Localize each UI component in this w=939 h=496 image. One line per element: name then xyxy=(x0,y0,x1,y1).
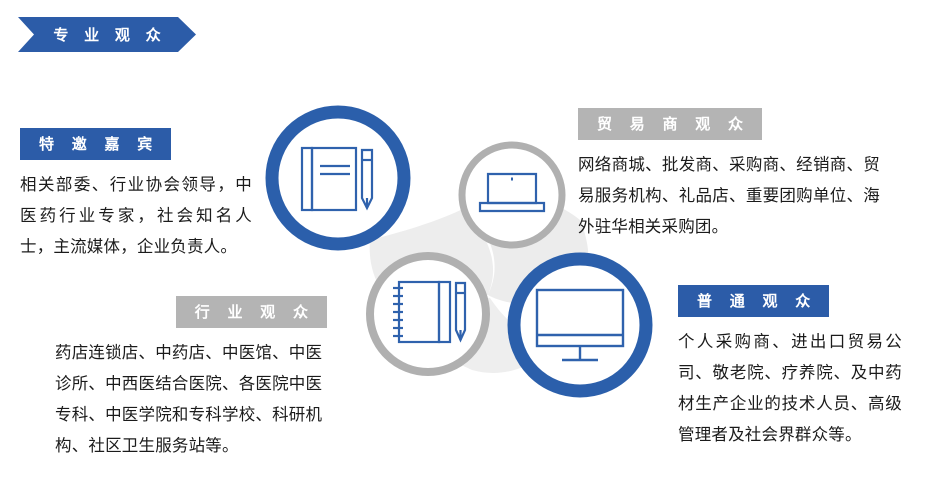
banner-title: 专 业 观 众 xyxy=(18,17,196,52)
section-public-body: 个人采购商、进出口贸易公司、敬老院、疗养院、及中药材生产企业的技术人员、高级管理… xyxy=(678,326,902,450)
infographic-canvas: 专 业 观 众 xyxy=(0,0,939,496)
section-trade-label: 贸 易 商 观 众 xyxy=(578,108,762,140)
section-vip: 特 邀 嘉 宾 相关部委、行业协会领导，中医药行业专家，社会知名人士，主流媒体，… xyxy=(20,128,258,262)
vip-circle xyxy=(272,112,404,244)
section-industry-body: 药店连锁店、中药店、中医馆、中医诊所、中西医结合医院、各医院中医专科、中医学院和… xyxy=(55,337,327,461)
industry-circle xyxy=(370,256,486,372)
section-trade-body: 网络商城、批发商、采购商、经销商、贸易服务机构、礼品店、重要团购单位、海外驻华相… xyxy=(578,149,880,242)
section-industry-label: 行 业 观 众 xyxy=(176,296,327,328)
page-banner: 专 业 观 众 xyxy=(18,17,196,52)
section-vip-body: 相关部委、行业协会领导，中医药行业专家，社会知名人士，主流媒体，企业负责人。 xyxy=(20,169,252,262)
section-public-label: 普 通 观 众 xyxy=(678,285,829,317)
public-circle xyxy=(514,259,646,391)
trade-circle xyxy=(462,145,562,245)
section-trade: 贸 易 商 观 众 网络商城、批发商、采购商、经销商、贸易服务机构、礼品店、重要… xyxy=(578,108,888,242)
section-industry: 行 业 观 众 药店连锁店、中药店、中医馆、中医诊所、中西医结合医院、各医院中医… xyxy=(55,296,327,461)
section-public: 普 通 观 众 个人采购商、进出口贸易公司、敬老院、疗养院、及中药材生产企业的技… xyxy=(678,285,906,450)
section-vip-label: 特 邀 嘉 宾 xyxy=(20,128,171,160)
